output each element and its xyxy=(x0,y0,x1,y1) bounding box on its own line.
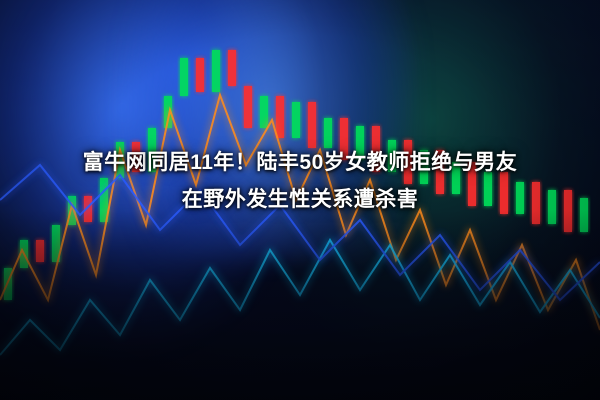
news-image: 富牛网同居11年！陆丰50岁女教师拒绝与男友 在野外发生性关系遭杀害 xyxy=(0,0,600,400)
headline-overlay: 富牛网同居11年！陆丰50岁女教师拒绝与男友 在野外发生性关系遭杀害 xyxy=(0,144,600,218)
headline-line-2: 在野外发生性关系遭杀害 xyxy=(10,181,590,218)
headline-line-1: 富牛网同居11年！陆丰50岁女教师拒绝与男友 xyxy=(10,144,590,181)
headline-text-1: 同居11年！陆丰50岁女教师拒绝与男友 xyxy=(147,151,517,174)
brand-watermark: 富牛网 xyxy=(83,151,148,174)
